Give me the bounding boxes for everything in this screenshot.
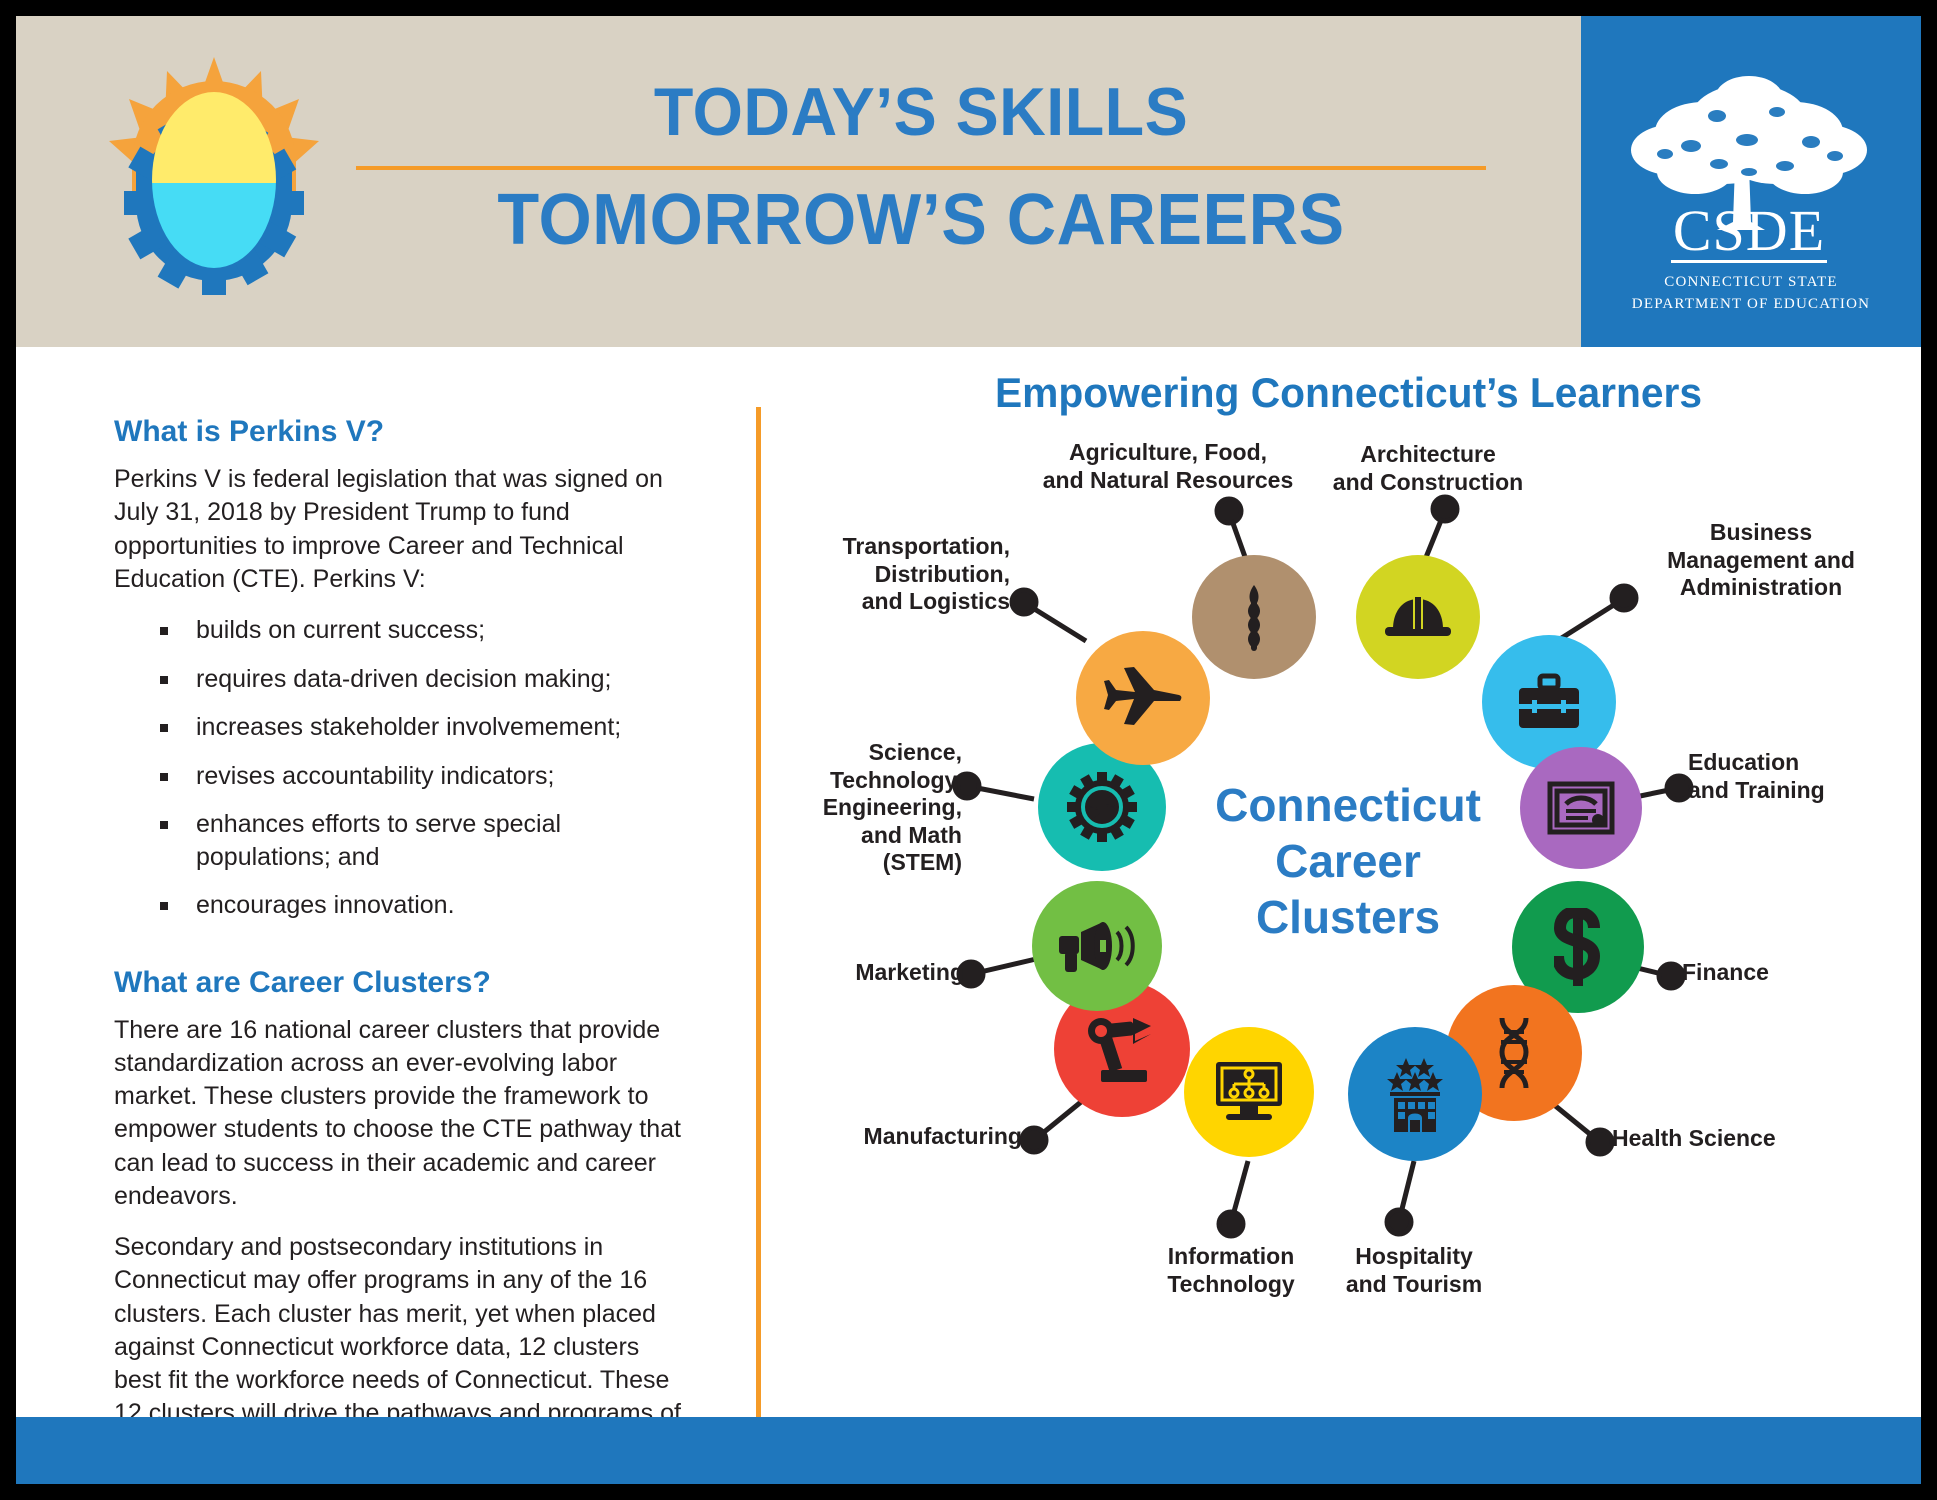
clusters-paragraph-1: There are 16 national career clusters th… (114, 1014, 684, 1214)
section-heading-perkins: What is Perkins V? (114, 415, 684, 449)
list-item: encourages innovation. (160, 889, 684, 922)
page-title-line-1: TODAY’S SKILLS (384, 78, 1458, 160)
list-item: builds on current success; (160, 614, 684, 647)
cluster-node-information-technology[interactable] (1184, 1027, 1314, 1157)
perkins-intro-paragraph: Perkins V is federal legislation that wa… (114, 463, 684, 596)
cluster-label-stem: Science, Technology, Engineering, and Ma… (746, 739, 962, 877)
cluster-node-architecture-construction[interactable] (1356, 555, 1480, 679)
wheel-center-label: Connecticut Career Clusters (1148, 777, 1548, 945)
list-item: requires data-driven decision making; (160, 663, 684, 696)
computer-network-icon (1212, 1060, 1286, 1124)
infographic-canvas: TODAY’S SKILLS TOMORROW’S CAREERS (16, 16, 1921, 1484)
gear-icon (1066, 771, 1138, 843)
airplane-icon (1102, 665, 1184, 731)
sun-gear-logo-icon (103, 53, 325, 305)
cluster-label-marketing: Marketing (788, 959, 964, 987)
dollar-icon (1554, 908, 1602, 986)
cluster-node-hospitality-tourism[interactable] (1348, 1027, 1482, 1161)
perkins-bullet-list: builds on current success; requires data… (114, 614, 684, 922)
cluster-label-transportation-distribution-logistics: Transportation, Distribution, and Logist… (776, 533, 1010, 616)
cluster-node-transportation-distribution-logistics[interactable] (1076, 631, 1210, 765)
svg-text:CSDE: CSDE (1673, 198, 1825, 263)
section-heading-clusters: What are Career Clusters? (114, 966, 684, 1000)
footer-bar (16, 1417, 1921, 1484)
cluster-node-agriculture-food-natural-resources[interactable] (1192, 555, 1316, 679)
header-title-block: TODAY’S SKILLS TOMORROW’S CAREERS (356, 78, 1486, 256)
header-banner: TODAY’S SKILLS TOMORROW’S CAREERS (16, 16, 1921, 347)
csde-subtitle-line-1: CONNECTICUT STATE (1581, 274, 1921, 291)
list-item: increases stakeholder involvemement; (160, 711, 684, 744)
csde-oak-tree-icon: CSDE (1599, 54, 1899, 272)
cluster-node-marketing[interactable] (1032, 881, 1162, 1011)
hardhat-icon (1383, 591, 1453, 643)
wheel-title: Empowering Connecticut’s Learners (793, 369, 1904, 417)
career-cluster-wheel-column: Empowering Connecticut’s Learners Connec… (776, 347, 1921, 1417)
cluster-label-health-science: Health Science (1612, 1125, 1852, 1153)
csde-logo-panel: CSDE CONNECTICUT STATE DEPARTMENT OF EDU… (1581, 16, 1921, 347)
infographic-page: TODAY’S SKILLS TOMORROW’S CAREERS (0, 0, 1937, 1500)
cluster-label-finance: Finance (1682, 959, 1882, 987)
list-item: enhances efforts to serve special popula… (160, 808, 684, 873)
cluster-label-information-technology: Information Technology (1106, 1243, 1356, 1298)
cluster-node-education-training[interactable] (1520, 747, 1642, 869)
cluster-label-manufacturing: Manufacturing (812, 1123, 1022, 1151)
column-divider (756, 407, 761, 1427)
list-item: revises accountability indicators; (160, 760, 684, 793)
robot-arm-icon (1085, 1014, 1159, 1084)
dna-icon (1488, 1014, 1540, 1092)
megaphone-icon (1057, 918, 1137, 974)
cluster-label-business-management-administration: Business Management and Administration (1636, 519, 1886, 602)
cluster-label-architecture-construction: Architecture and Construction (1278, 441, 1578, 496)
left-text-column: What is Perkins V? Perkins V is federal … (114, 415, 684, 1484)
diploma-icon (1546, 780, 1616, 836)
title-divider-rule (356, 166, 1486, 170)
csde-subtitle-line-2: DEPARTMENT OF EDUCATION (1581, 296, 1921, 313)
page-title-line-2: TOMORROW’S CAREERS (384, 184, 1458, 256)
wheat-icon (1229, 581, 1279, 653)
body-area: What is Perkins V? Perkins V is federal … (16, 347, 1921, 1417)
career-cluster-wheel: Connecticut Career Clusters (848, 447, 1858, 1347)
briefcase-icon (1514, 672, 1584, 732)
cluster-label-education-training: Education and Training (1688, 749, 1918, 804)
hotel-icon (1384, 1056, 1446, 1132)
